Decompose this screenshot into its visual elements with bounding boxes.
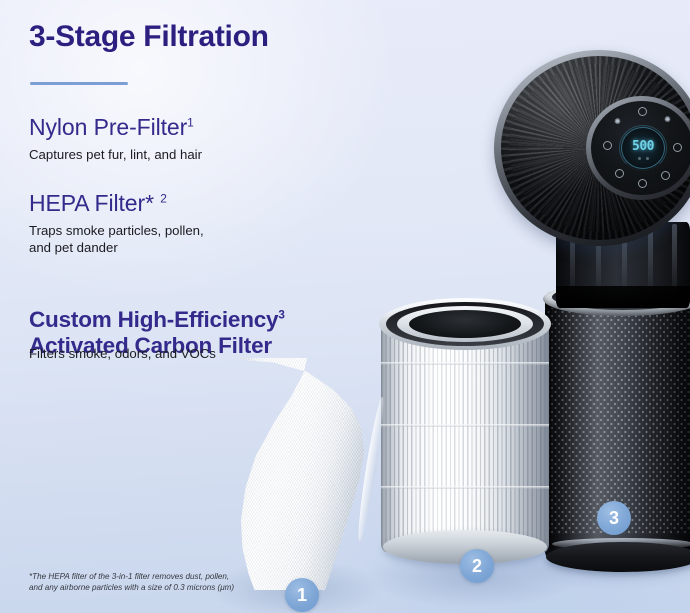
air-quality-display: 500 xyxy=(621,127,665,169)
air-quality-value: 500 xyxy=(622,139,664,154)
badge-2: 2 xyxy=(460,549,494,583)
housing-shadow-gap xyxy=(556,286,690,308)
power-icon[interactable] xyxy=(638,107,647,116)
purifier-head: ✺ ✺ 500 xyxy=(494,44,690,262)
hepa-shading xyxy=(381,320,549,552)
product-illustration: ✺ ✺ 500 xyxy=(0,0,690,613)
hepa-filter-product xyxy=(373,276,559,566)
hepa-filter-body xyxy=(381,320,549,552)
filtration-infographic: 3-Stage Filtration Nylon Pre-Filter1 Cap… xyxy=(0,0,690,613)
carbon-filter-base xyxy=(546,542,690,572)
auto-mode-icon[interactable]: ✺ xyxy=(613,117,622,126)
hepa-filter-cavity xyxy=(409,310,521,338)
hepa-support-band xyxy=(381,486,549,489)
nylon-pre-filter-product xyxy=(214,358,374,593)
badge-3: 3 xyxy=(597,501,631,535)
control-panel[interactable]: ✺ ✺ 500 xyxy=(591,101,690,195)
hepa-support-band xyxy=(381,424,549,427)
badge-1: 1 xyxy=(285,578,319,612)
filter-reset-icon[interactable] xyxy=(673,143,682,152)
display-indicator-dot xyxy=(638,157,641,160)
footnote-text: *The HEPA filter of the 3-in-1 filter re… xyxy=(29,571,234,594)
night-mode-icon[interactable] xyxy=(615,169,624,178)
pre-filter-shading xyxy=(214,358,364,590)
hepa-support-band xyxy=(381,362,549,365)
lock-icon[interactable] xyxy=(661,171,670,180)
timer-icon[interactable] xyxy=(603,141,612,150)
light-icon[interactable] xyxy=(638,179,647,188)
pre-filter-sheet xyxy=(214,358,364,590)
fan-speed-icon[interactable]: ✺ xyxy=(663,115,672,124)
display-indicator-dot xyxy=(646,157,649,160)
